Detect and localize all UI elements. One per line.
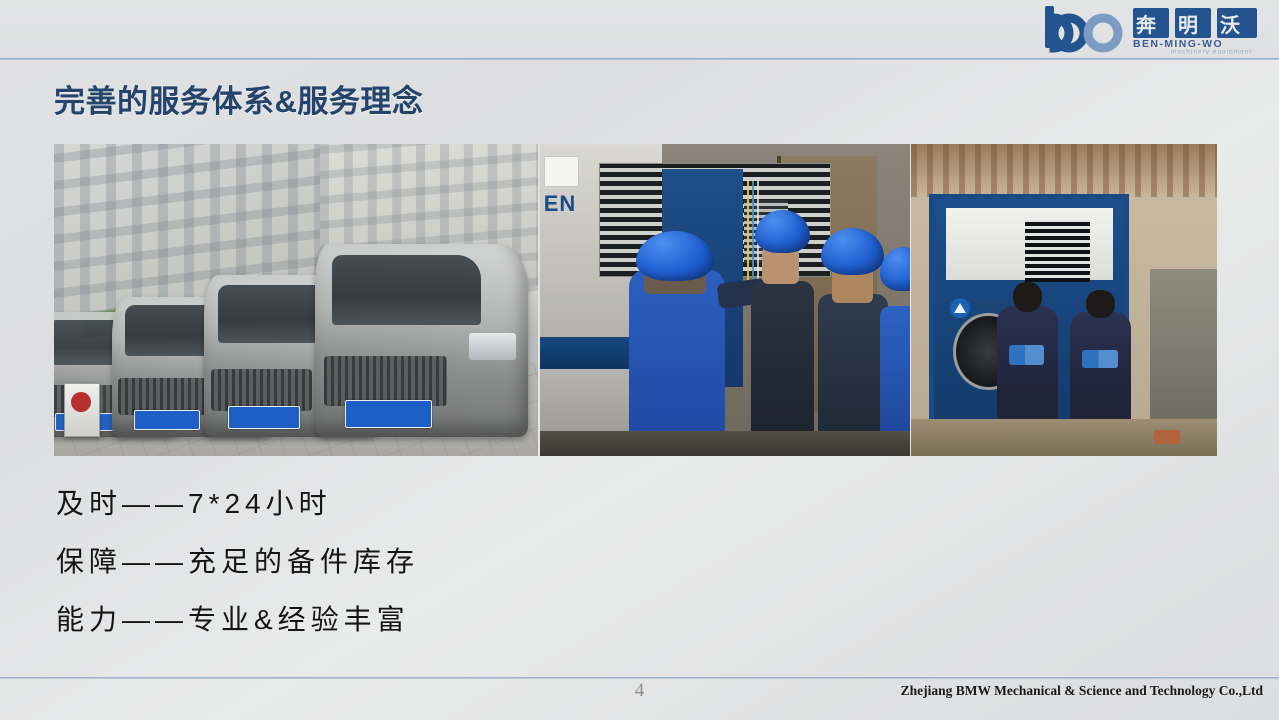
page-title: 完善的服务体系&服务理念 [54, 76, 423, 121]
svg-text:machinery equipment: machinery equipment [1171, 49, 1252, 55]
body-line-2: 保障——充足的备件库存 [56, 533, 419, 591]
car-4 [315, 244, 528, 437]
aerzen-maintenance-photo: AERZEN [911, 144, 1217, 456]
photo-strip: EN [54, 144, 1217, 456]
enclosure-brand-label: EN [544, 191, 577, 217]
hard-hat-4 [880, 247, 910, 291]
enclosure-label-tag [544, 156, 579, 186]
body-line-3: 能力——专业&经验丰富 [56, 591, 419, 649]
worker-middle [751, 281, 814, 456]
brick [1154, 430, 1180, 444]
body-text-block: 及时——7*24小时 保障——充足的备件库存 能力——专业&经验丰富 [56, 475, 419, 649]
header-divider [0, 57, 1279, 60]
shed-roof [911, 144, 1217, 197]
svg-text:奔: 奔 [1135, 13, 1157, 37]
footer-company-name: Zhejiang BMW Mechanical & Science and Te… [901, 683, 1263, 699]
onsite-service-photo: EN [540, 144, 910, 456]
bo-monogram-icon: 奔 明 沃 BEN-MING-WO machinery equipment [1041, 4, 1265, 54]
worker-foreground [629, 269, 725, 456]
svg-text:明: 明 [1178, 13, 1198, 37]
slide: 奔 明 沃 BEN-MING-WO machinery equipment 完善… [0, 0, 1279, 720]
body-line-1: 及时——7*24小时 [56, 475, 419, 533]
company-logo: 奔 明 沃 BEN-MING-WO machinery equipment [1041, 4, 1265, 54]
hard-hat-1 [636, 231, 714, 281]
service-fleet-photo [54, 144, 538, 456]
unit-vent [1025, 220, 1090, 282]
floor [540, 431, 910, 456]
footer-divider [0, 676, 1279, 679]
parking-sign [64, 383, 100, 437]
adjacent-cabinet [1150, 269, 1217, 419]
svg-text:沃: 沃 [1220, 13, 1240, 37]
aerzen-logo-icon [950, 298, 970, 318]
